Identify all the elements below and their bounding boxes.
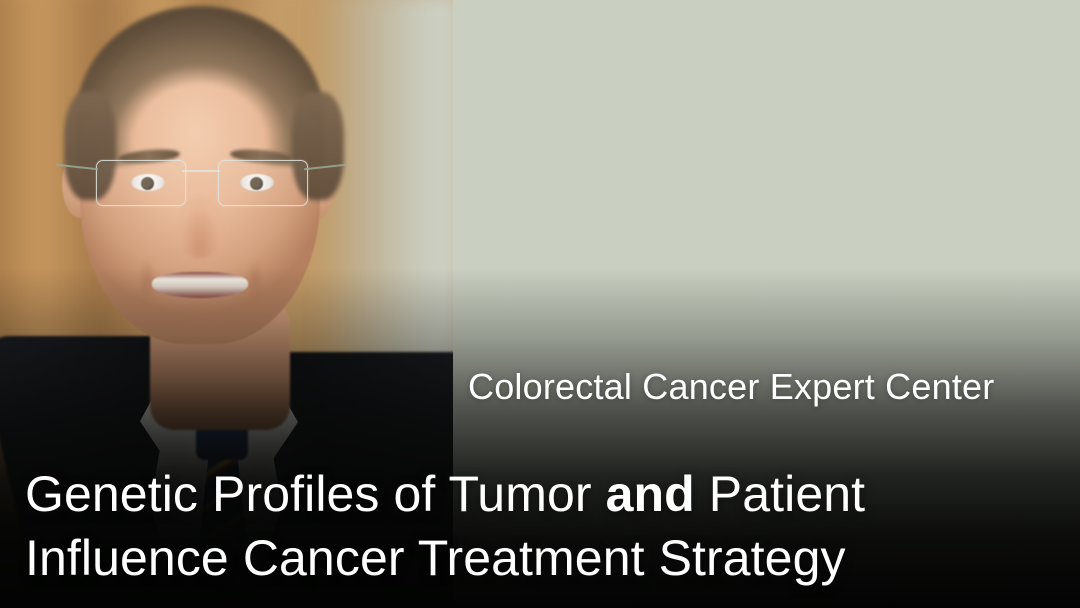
- eyeglass-bridge: [182, 170, 220, 172]
- eyeglass-lens-right: [218, 160, 308, 206]
- title-line-1: Genetic Profiles of Tumor and Patient: [25, 462, 1055, 526]
- video-title-card: Colorectal Cancer Expert Center Genetic …: [0, 0, 1080, 608]
- smiling-mouth: [152, 272, 248, 298]
- title-heading: Genetic Profiles of Tumor and Patient In…: [25, 462, 1055, 590]
- title-line-2: Influence Cancer Treatment Strategy: [25, 526, 1055, 590]
- nose: [178, 196, 222, 258]
- title-emphasis-and: and: [606, 466, 695, 522]
- subtitle-text: Colorectal Cancer Expert Center: [468, 367, 1048, 407]
- smile-line-right: [246, 258, 264, 302]
- eyeglass-lens-left: [96, 160, 186, 206]
- title-line-1-post: Patient: [695, 466, 865, 522]
- chin: [150, 302, 254, 350]
- title-line-1-pre: Genetic Profiles of Tumor: [25, 466, 606, 522]
